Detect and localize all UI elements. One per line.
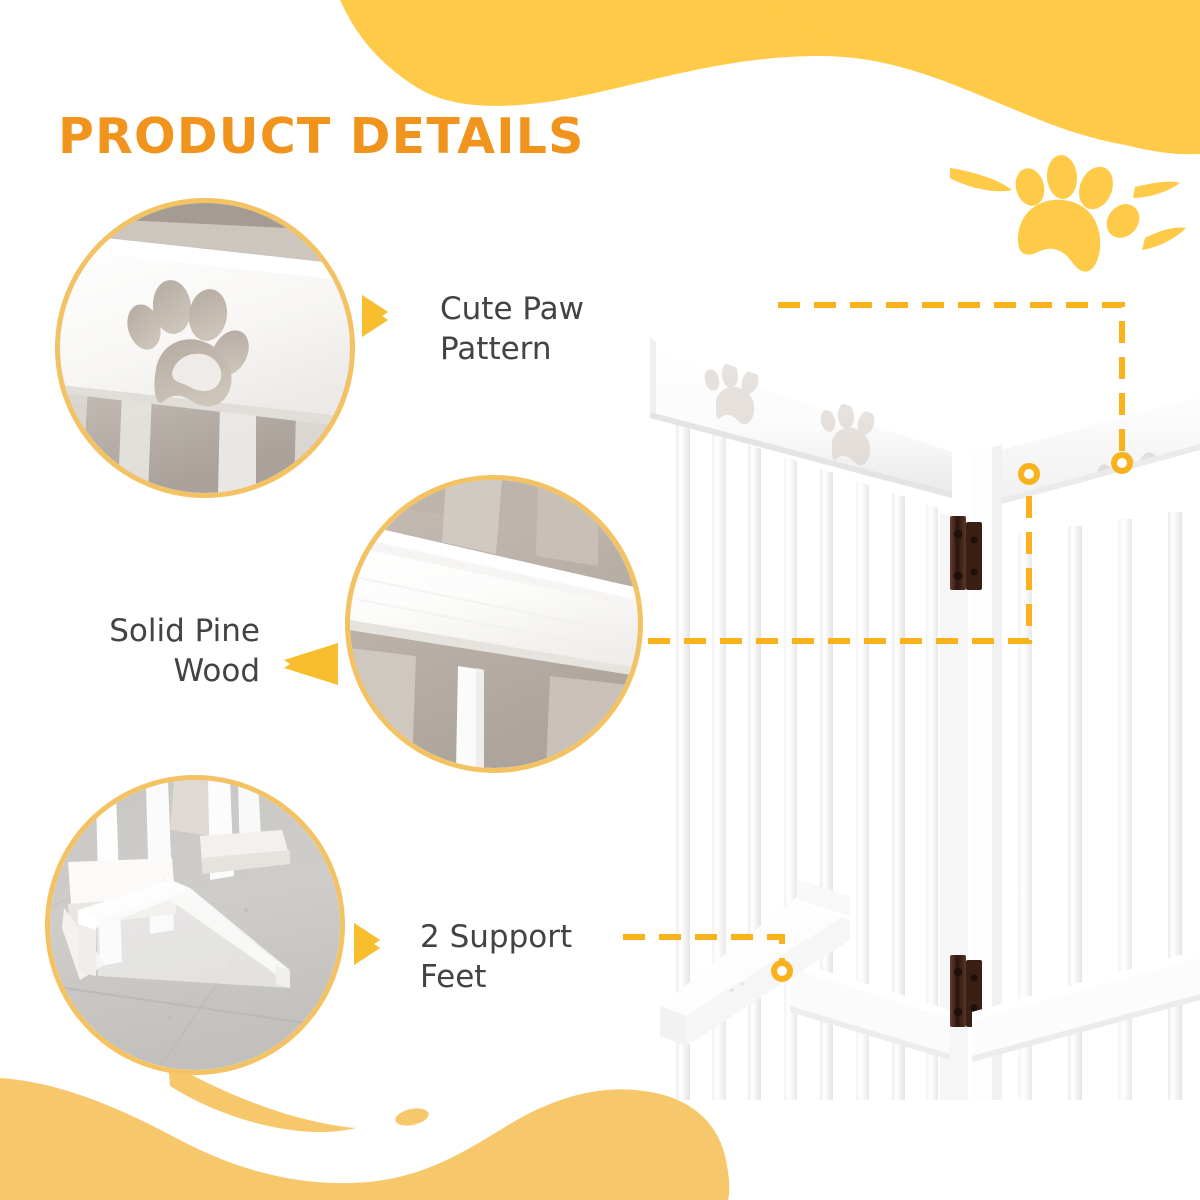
photo-cute-paw-pattern-image [60, 203, 350, 493]
gate-top-rail-right [972, 386, 1200, 520]
photo-cute-paw-pattern [55, 198, 355, 498]
gate-hinge-top [950, 516, 982, 590]
leaf-swoosh [394, 1106, 431, 1129]
paw-print-decoration [1012, 154, 1146, 272]
callout-arrow-support-feet [352, 920, 410, 968]
callout-label-support-feet: 2 Support Feet [420, 918, 572, 997]
callout-arrow-cute-paw-pattern [360, 292, 418, 340]
infographic-canvas: PRODUCT DETAILS [0, 0, 1200, 1200]
photo-solid-pine-wood-image [350, 480, 638, 768]
page-title: PRODUCT DETAILS [58, 108, 585, 165]
leaf-swoosh [950, 168, 1012, 191]
photo-solid-pine-wood [345, 475, 643, 773]
product-photo-pet-gate [620, 300, 1200, 1100]
callout-arrow-solid-pine-wood [282, 640, 340, 688]
leaf-swoosh [498, 1162, 532, 1200]
photo-support-feet-image [50, 780, 340, 1070]
callout-label-cute-paw-pattern: Cute Paw Pattern [440, 290, 584, 369]
leaf-swoosh [1142, 227, 1186, 250]
gate-top-rail-left [650, 338, 952, 498]
leaf-swoosh [1133, 182, 1180, 198]
top-yellow-wave-right [760, 0, 1200, 154]
callout-label-solid-pine-wood: Solid Pine Wood [40, 612, 260, 691]
photo-support-feet [45, 775, 345, 1075]
